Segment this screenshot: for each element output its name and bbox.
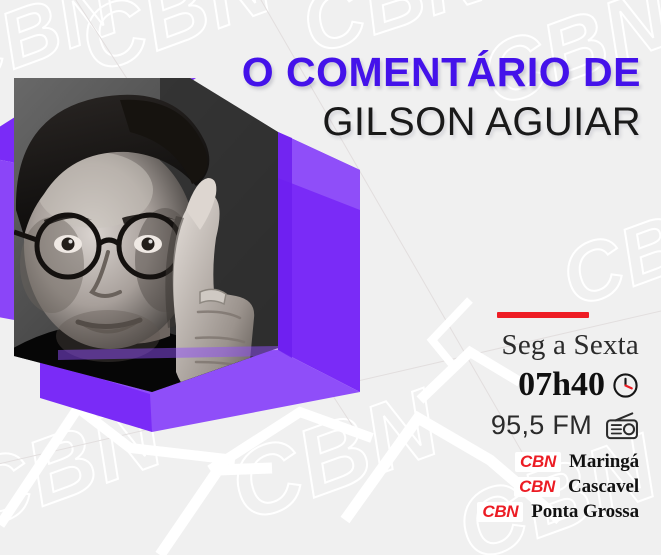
cbn-logo-badge: CBN: [477, 502, 523, 523]
cbn-wordmark: CBN: [482, 503, 518, 521]
schedule-time: 07h40: [518, 366, 605, 404]
list-item: CBN Maringá: [515, 451, 639, 473]
station-list: CBN Maringá CBN Cascavel CBN Ponta Gross…: [369, 451, 639, 523]
schedule-frequency: 95,5 FM: [491, 410, 592, 441]
cbn-watermark: CBN: [552, 181, 661, 321]
headline-line-1: O COMENTÁRIO DE: [242, 52, 641, 93]
cbn-wordmark: CBN: [519, 478, 555, 496]
station-city: Maringá: [569, 451, 639, 473]
clock-icon: [612, 372, 639, 399]
schedule-days: Seg a Sexta: [369, 329, 639, 362]
headline-line-2: GILSON AGUIAR: [242, 102, 641, 142]
cbn-wordmark: CBN: [520, 453, 556, 471]
cbn-logo-badge: CBN: [515, 452, 561, 473]
station-city: Ponta Grossa: [531, 501, 639, 523]
schedule-time-row: 07h40: [369, 366, 639, 404]
schedule-panel: Seg a Sexta 07h40 95,5 FM: [369, 312, 639, 523]
red-divider: [497, 312, 589, 318]
schedule-frequency-row: 95,5 FM: [369, 410, 639, 441]
poster-headline: O COMENTÁRIO DE GILSON AGUIAR: [242, 52, 641, 142]
list-item: CBN Ponta Grossa: [477, 501, 639, 523]
list-item: CBN Cascavel: [514, 476, 639, 498]
station-city: Cascavel: [568, 476, 639, 498]
poster-canvas: CBN CBN CBN CBN CBN CBN CBN CBN CBN: [0, 0, 661, 555]
cbn-logo-badge: CBN: [514, 477, 560, 498]
radio-icon: [605, 412, 639, 440]
